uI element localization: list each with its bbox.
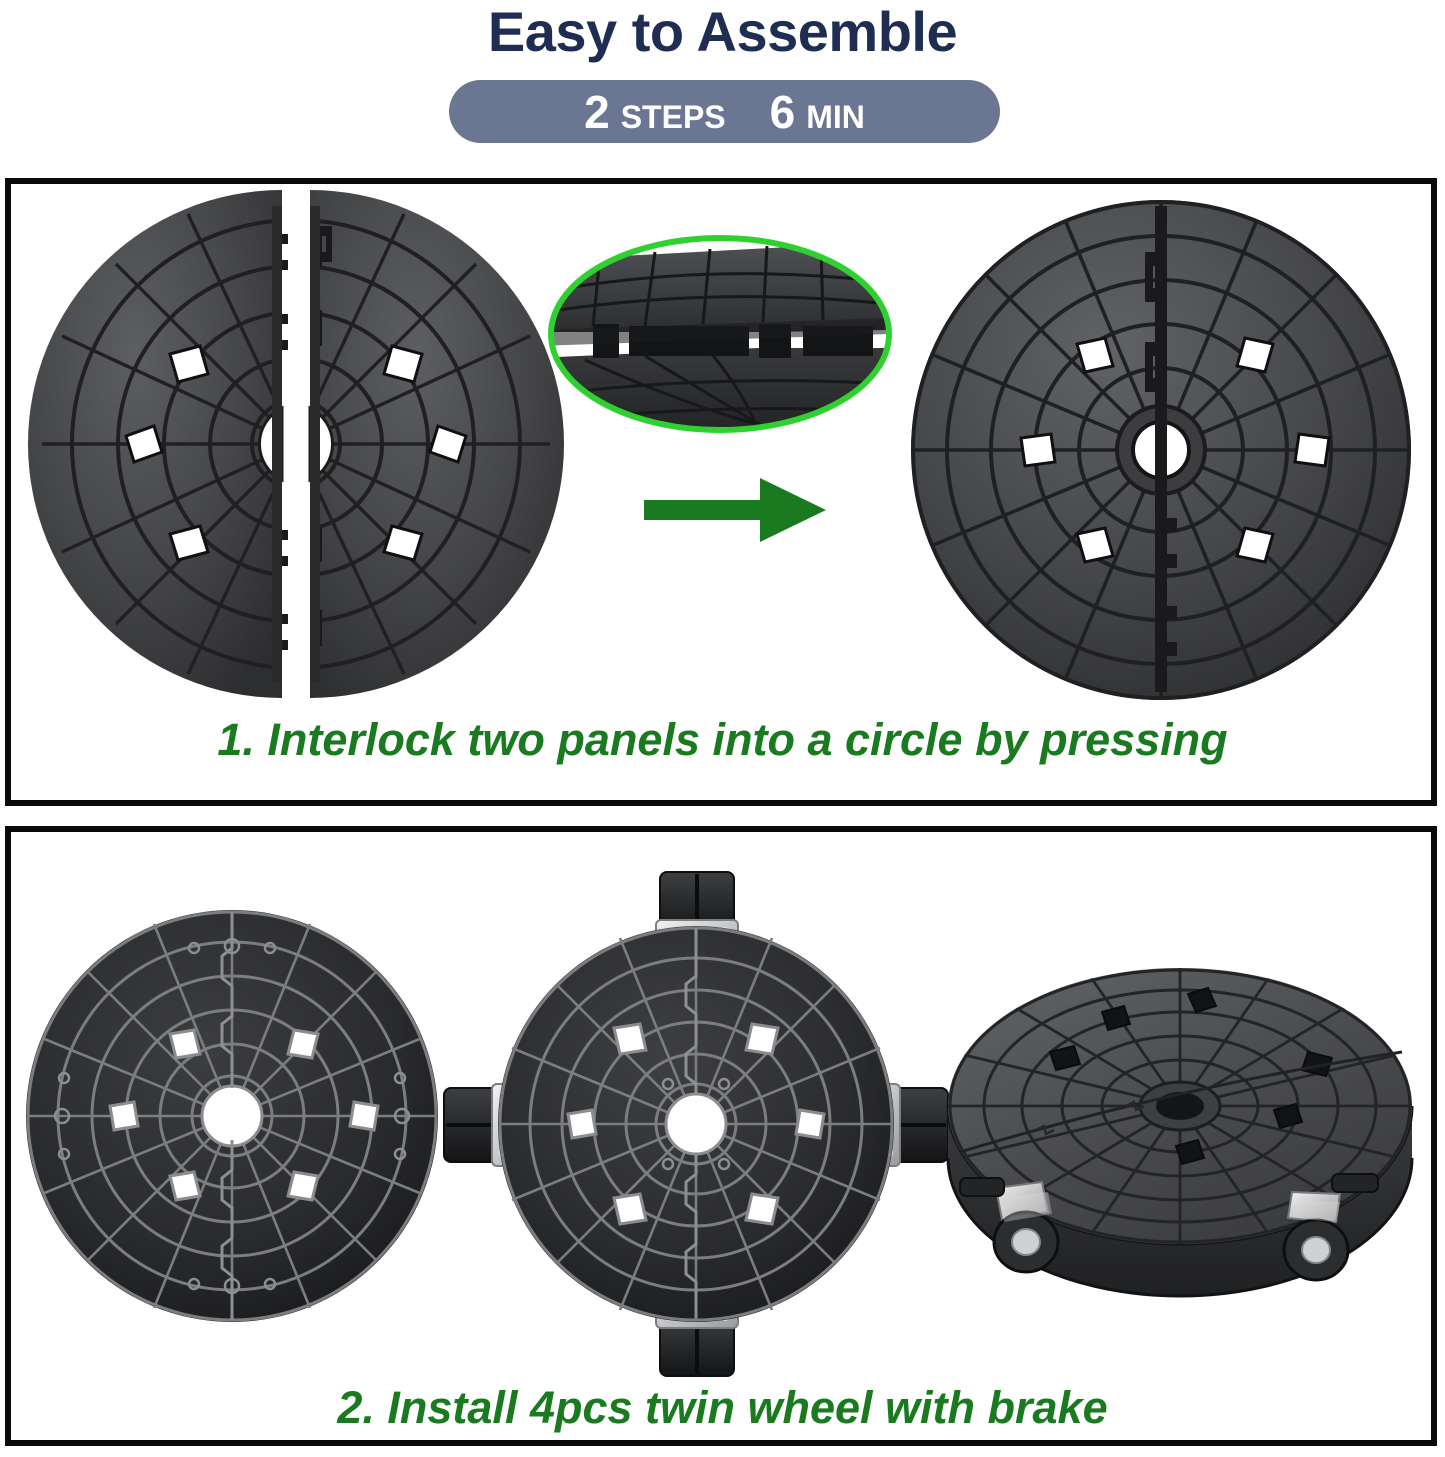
step-2-caption: 2. Install 4pcs twin wheel with brake	[0, 1382, 1445, 1434]
assembled-disc-figure	[905, 196, 1417, 704]
assembly-summary-badge: 2 STEPS 6 MIN	[449, 80, 1000, 143]
header: Easy to Assemble 2 STEPS 6 MIN	[0, 0, 1445, 172]
caster-front-left	[960, 1178, 1058, 1272]
steps-count: 2	[584, 89, 610, 135]
casters-installed-figure	[438, 866, 954, 1382]
step-1-caption: 1. Interlock two panels into a circle by…	[0, 714, 1445, 766]
finished-caddy-perspective-figure	[940, 946, 1420, 1316]
interlock-detail-inset-figure	[545, 234, 895, 434]
minutes-label: MIN	[806, 101, 865, 133]
badge-content: 2 STEPS 6 MIN	[584, 89, 865, 135]
assembly-arrow-icon	[640, 470, 830, 550]
two-half-panels-figure	[10, 186, 582, 702]
steps-label: STEPS	[621, 101, 726, 133]
page-title: Easy to Assemble	[0, 0, 1445, 66]
underside-ribbed-figure	[22, 906, 442, 1326]
minutes-count: 6	[770, 89, 796, 135]
